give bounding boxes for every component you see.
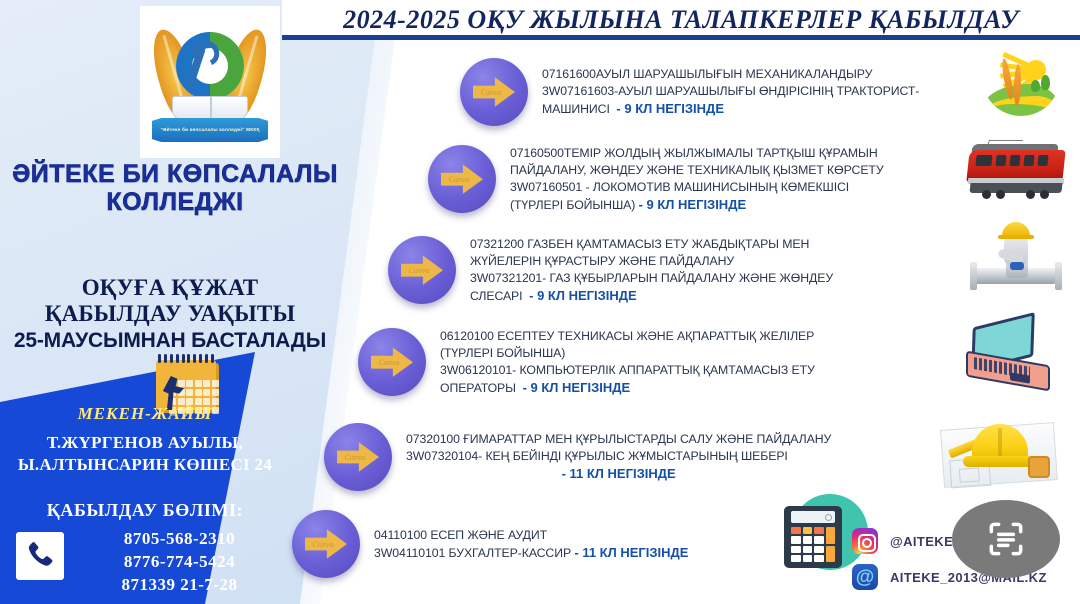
- scan-text-button[interactable]: [952, 500, 1060, 578]
- address-line2: Ы.АЛТЫНСАРИН КӨШЕСІ 24: [0, 454, 290, 476]
- program-5-line1: 07320100 ҒИМАРАТТАР МЕН ҚҰРЫЛЫСТАРДЫ САЛ…: [406, 431, 831, 448]
- program-2-grade: - 9 КЛ НЕГІЗІНДЕ: [639, 197, 747, 212]
- program-text-4: 06120100 ЕСЕПТЕУ ТЕХНИКАСЫ ЖӘНЕ АҚПАРАТТ…: [440, 328, 815, 396]
- admission-line2: ҚАБЫЛДАУ УАҚЫТЫ: [10, 301, 330, 327]
- agriculture-sun-logo-icon: [968, 36, 1066, 118]
- program-1-line3: МАШИНИСІ: [542, 102, 610, 116]
- program-6-line1: 04110100 ЕСЕП ЖӘНЕ АУДИТ: [374, 527, 688, 544]
- instagram-handle[interactable]: @AITEKE: [890, 534, 953, 549]
- bullet-watermark-2: Canva: [449, 175, 470, 184]
- bullet-arrow-1[interactable]: Canva: [460, 58, 528, 126]
- laptop-icon: [958, 318, 1062, 396]
- program-row-2[interactable]: Canva 07160500ТЕМІР ЖОЛДЫҢ ЖЫЛЖЫМАЛЫ ТАР…: [428, 145, 1028, 213]
- program-3-grade: - 9 КЛ НЕГІЗІНДЕ: [529, 288, 637, 303]
- phone-number-2[interactable]: 8776-774-5424: [72, 551, 287, 574]
- admission-period-block: ОҚУҒА ҚҰЖАТ ҚАБЫЛДАУ УАҚЫТЫ 25-МАУСЫМНАН…: [10, 275, 330, 354]
- bullet-watermark-3: Canva: [409, 266, 430, 275]
- program-row-1[interactable]: Canva 07161600АУЫЛ ШАРУАШЫЛЫҒЫН МЕХАНИКА…: [460, 58, 1020, 126]
- admissions-dept-label: ҚАБЫЛДАУ БӨЛІМІ:: [0, 500, 290, 521]
- bullet-arrow-3[interactable]: Canva: [388, 236, 456, 304]
- program-3-line3: 3W07321201- ГАЗ ҚҰБЫРЛАРЫН ПАЙДАЛАНУ ЖӘН…: [470, 270, 833, 287]
- college-name: ӘЙТЕКЕ БИ КӨПСАЛАЛЫ КОЛЛЕДЖІ: [10, 160, 340, 216]
- page-title: 2024-2025 ОҚУ ЖЫЛЫНА ТАЛАПКЕРЛЕР ҚАБЫЛДА…: [343, 5, 1019, 35]
- phone-number-1[interactable]: 8705-568-2310: [72, 528, 287, 551]
- program-2-line2: ПАЙДАЛАНУ, ЖӨНДЕУ ЖӘНЕ ТЕХНИКАЛЫҚ ҚЫЗМЕТ…: [510, 162, 884, 179]
- poster-canvas: 2024-2025 ОҚУ ЖЫЛЫНА ТАЛАПКЕРЛЕР ҚАБЫЛДА…: [0, 0, 1080, 604]
- program-1-line1: 07161600АУЫЛ ШАРУАШЫЛЫҒЫН МЕХАНИКАЛАНДЫР…: [542, 66, 919, 83]
- program-text-3: 07321200 ГАЗБЕН ҚАМТАМАСЫЗ ЕТУ ЖАБДЫҚТАР…: [470, 236, 833, 304]
- bullet-arrow-6[interactable]: Canva: [292, 510, 360, 578]
- program-row-3[interactable]: Canva 07321200 ГАЗБЕН ҚАМТАМАСЫЗ ЕТУ ЖАБ…: [388, 236, 1008, 304]
- program-text-2: 07160500ТЕМІР ЖОЛДЫҢ ЖЫЛЖЫМАЛЫ ТАРТҚЫШ Қ…: [510, 145, 884, 213]
- hard-hat-blueprint-icon: [940, 408, 1060, 492]
- college-name-line2: КОЛЛЕДЖІ: [10, 188, 340, 216]
- program-4-line2: (ТҮРЛЕРІ БОЙЫНША): [440, 345, 815, 362]
- bullet-watermark-4: Canva: [379, 358, 400, 367]
- program-3-line1: 07321200 ГАЗБЕН ҚАМТАМАСЫЗ ЕТУ ЖАБДЫҚТАР…: [470, 236, 833, 253]
- program-row-6[interactable]: Canva 04110100 ЕСЕП ЖӘНЕ АУДИТ 3W0411010…: [292, 510, 852, 578]
- admission-line1: ОҚУҒА ҚҰЖАТ: [10, 275, 330, 301]
- program-row-4[interactable]: Canva 06120100 ЕСЕПТЕУ ТЕХНИКАСЫ ЖӘНЕ АҚ…: [358, 328, 1008, 396]
- address-label: МЕКЕН-ЖАЙЫ: [0, 404, 290, 424]
- open-book-icon: [172, 96, 248, 120]
- program-4-grade: - 9 КЛ НЕГІЗІНДЕ: [523, 380, 631, 395]
- bullet-arrow-2[interactable]: Canva: [428, 145, 496, 213]
- bullet-watermark-6: Canva: [313, 540, 334, 549]
- program-row-5[interactable]: Canva 07320100 ҒИМАРАТТАР МЕН ҚҰРЫЛЫСТАР…: [324, 423, 1004, 491]
- contact-content: МЕКЕН-ЖАЙЫ Т.ЖҮРГЕНОВ АУЫЛЫ, Ы.АЛТЫНСАРИ…: [0, 352, 300, 604]
- program-1-line2: 3W07161603-АУЫЛ ШАРУАШЫЛЫҒЫ ӨНДІРІСІНІҢ …: [542, 83, 919, 100]
- bullet-watermark-1: Canva: [481, 88, 502, 97]
- address-line1: Т.ЖҮРГЕНОВ АУЫЛЫ,: [0, 432, 290, 454]
- program-2-line3: 3W07160501 - ЛОКОМОТИВ МАШИНИСЫНЫҢ КӨМЕК…: [510, 179, 884, 196]
- program-5-line2: 3W07320104- КЕҢ БЕЙІНДІ ҚҰРЫЛЫС ЖҰМЫСТАР…: [406, 448, 831, 465]
- admission-line3: 25-МАУСЫМНАН БАСТАЛАДЫ: [10, 328, 330, 353]
- poster-header: 2024-2025 ОҚУ ЖЫЛЫНА ТАЛАПКЕРЛЕР ҚАБЫЛДА…: [282, 0, 1080, 40]
- program-text-5: 07320100 ҒИМАРАТТАР МЕН ҚҰРЫЛЫСТАРДЫ САЛ…: [406, 431, 831, 482]
- program-5-grade: - 11 КЛ НЕГІЗІНДЕ: [406, 465, 831, 483]
- gas-valve-worker-icon: [968, 218, 1064, 302]
- program-text-6: 04110100 ЕСЕП ЖӘНЕ АУДИТ 3W04110101 БУХГ…: [374, 527, 688, 562]
- program-4-line3: 3W06120101- КОМПЬЮТЕРЛІК АППАРАТТЫҚ ҚАМТ…: [440, 362, 815, 379]
- instagram-icon[interactable]: [852, 528, 878, 554]
- program-6-line2: 3W04110101 БУХГАЛТЕР-КАССИР: [374, 546, 571, 560]
- program-3-line2: ЖҮЙЕЛЕРІН ҚҰРАСТЫРУ ЖӘНЕ ПАЙДАЛАНУ: [470, 253, 833, 270]
- email-icon[interactable]: @: [852, 564, 878, 590]
- bullet-arrow-4[interactable]: Canva: [358, 328, 426, 396]
- college-emblem: "Әйтеке би көпсалалы колледжі" МККҚ: [140, 6, 280, 158]
- emblem-ribbon-text: "Әйтеке би көпсалалы колледжі" МККҚ: [161, 127, 260, 133]
- program-6-grade: - 11 КЛ НЕГІЗІНДЕ: [574, 545, 688, 560]
- program-4-line1: 06120100 ЕСЕПТЕУ ТЕХНИКАСЫ ЖӘНЕ АҚПАРАТТ…: [440, 328, 815, 345]
- program-2-line4: (ТҮРЛЕРІ БОЙЫНША): [510, 198, 635, 212]
- program-4-line4: ОПЕРАТОРЫ: [440, 381, 516, 395]
- program-2-line1: 07160500ТЕМІР ЖОЛДЫҢ ЖЫЛЖЫМАЛЫ ТАРТҚЫШ Қ…: [510, 145, 884, 162]
- program-1-grade: - 9 КЛ НЕГІЗІНДЕ: [616, 101, 724, 116]
- header-underline: [282, 36, 1080, 40]
- program-text-1: 07161600АУЫЛ ШАРУАШЫЛЫҒЫН МЕХАНИКАЛАНДЫР…: [542, 66, 919, 118]
- phone-icon: [16, 532, 64, 580]
- phone-number-3[interactable]: 871339 21-7-28: [72, 574, 287, 597]
- college-name-line1: ӘЙТЕКЕ БИ КӨПСАЛАЛЫ: [10, 160, 340, 188]
- bullet-watermark-5: Canva: [345, 453, 366, 462]
- locomotive-train-icon: [966, 140, 1070, 202]
- program-3-line4: СЛЕСАРІ: [470, 289, 522, 303]
- emblem-ribbon: "Әйтеке би көпсалалы колледжі" МККҚ: [152, 118, 268, 142]
- bullet-arrow-5[interactable]: Canva: [324, 423, 392, 491]
